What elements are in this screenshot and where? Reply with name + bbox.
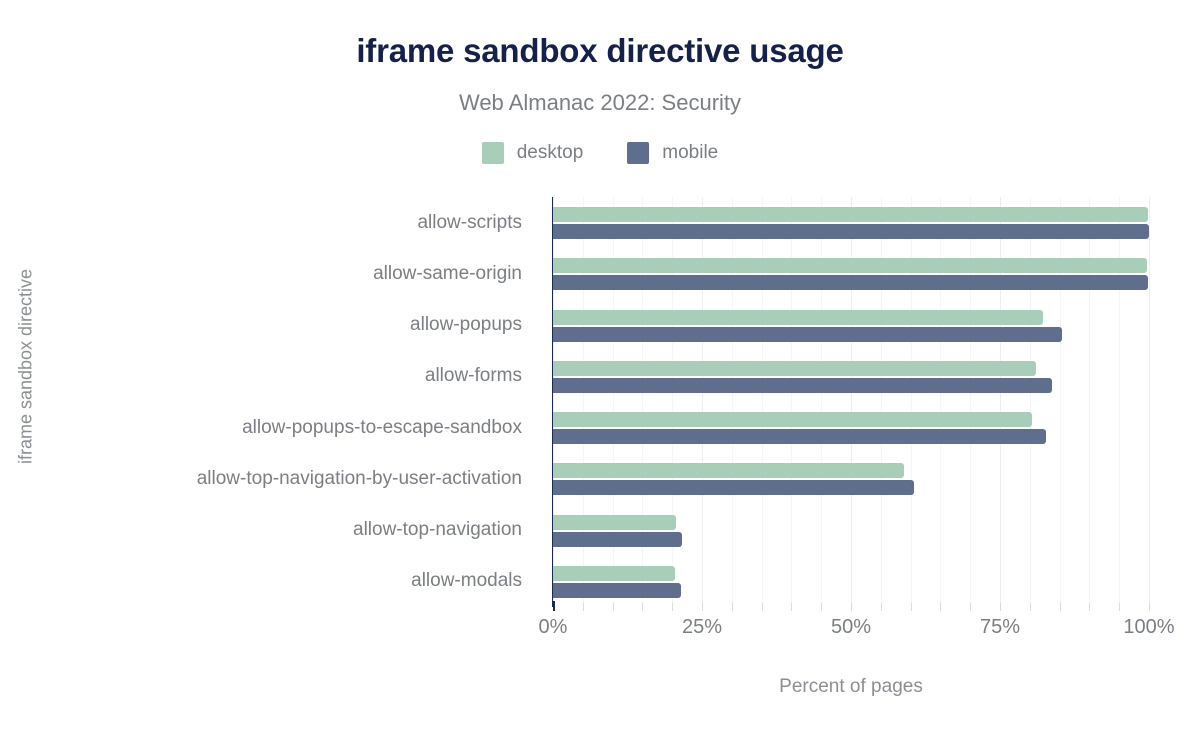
x-tick-mark-90 [1089,603,1090,611]
legend-item-desktop[interactable]: desktop [482,142,584,164]
bar-group [553,556,1149,607]
plot-area [553,197,1149,607]
bar-group [553,453,1149,504]
y-axis-label: allow-forms [52,365,522,387]
bar-mobile[interactable] [553,480,914,495]
x-tick-mark-15 [642,603,643,611]
x-tick-mark-50 [851,603,852,611]
bar-group [553,197,1149,248]
x-tick-label: 0% [539,616,568,639]
x-tick-mark-80 [1030,603,1031,611]
x-tick-mark-20 [672,603,673,611]
x-tick-mark-85 [1060,603,1061,611]
bar-group [553,351,1149,402]
bar-group [553,505,1149,556]
bar-desktop[interactable] [553,412,1032,427]
x-tick-mark-0 [553,601,555,611]
x-tick-mark-35 [762,603,763,611]
bar-mobile[interactable] [553,532,682,547]
x-tick-mark-30 [732,603,733,611]
bar-desktop[interactable] [553,361,1036,376]
legend-label-mobile: mobile [662,142,718,164]
x-tick-label: 75% [980,616,1020,639]
legend-label-desktop: desktop [517,142,584,164]
y-axis-label: allow-scripts [52,212,522,234]
x-tick-mark-70 [970,603,971,611]
legend-item-mobile[interactable]: mobile [627,142,718,164]
y-axis-label: allow-modals [52,570,522,592]
x-tick-mark-25 [702,603,703,611]
y-axis-label: allow-same-origin [52,263,522,285]
x-tick-label: 25% [682,616,722,639]
x-tick-mark-100 [1149,603,1150,611]
x-tick-label: 100% [1123,616,1174,639]
bar-group [553,402,1149,453]
bar-mobile[interactable] [553,583,681,598]
y-axis-label: allow-popups [52,314,522,336]
x-tick-mark-60 [911,603,912,611]
chart-legend: desktopmobile [0,142,1200,164]
x-tick-mark-55 [881,603,882,611]
bar-desktop[interactable] [553,258,1147,273]
chart-title: iframe sandbox directive usage [0,32,1200,70]
chart-subtitle: Web Almanac 2022: Security [0,90,1200,116]
x-tick-mark-5 [583,603,584,611]
x-tick-mark-75 [1000,603,1001,611]
bar-mobile[interactable] [553,327,1062,342]
y-axis-label: allow-top-navigation [52,519,522,541]
y-axis-title: iframe sandbox directive [16,237,37,497]
legend-swatch-desktop [482,142,504,164]
bar-group [553,248,1149,299]
bar-mobile[interactable] [553,224,1149,239]
x-tick-mark-40 [791,603,792,611]
chart-figure: iframe sandbox directive usage Web Alman… [0,0,1200,742]
x-tick-mark-95 [1119,603,1120,611]
x-tick-mark-45 [821,603,822,611]
y-axis-label: allow-top-navigation-by-user-activation [52,468,522,490]
legend-swatch-mobile [627,142,649,164]
bar-mobile[interactable] [553,378,1052,393]
bar-desktop[interactable] [553,310,1043,325]
y-axis-category-labels: allow-scriptsallow-same-originallow-popu… [60,197,538,607]
gridline-100 [1149,197,1150,607]
bar-mobile[interactable] [553,275,1148,290]
x-tick-mark-65 [940,603,941,611]
bar-group [553,300,1149,351]
x-axis-title: Percent of pages [553,676,1149,698]
x-tick-label: 50% [831,616,871,639]
bar-desktop[interactable] [553,515,676,530]
bar-desktop[interactable] [553,207,1148,222]
bar-desktop[interactable] [553,566,675,581]
bar-desktop[interactable] [553,463,904,478]
x-axis-ticks: 0%25%50%75%100% [553,612,1149,646]
y-axis-label: allow-popups-to-escape-sandbox [52,417,522,439]
x-tick-mark-10 [613,603,614,611]
bar-mobile[interactable] [553,429,1046,444]
